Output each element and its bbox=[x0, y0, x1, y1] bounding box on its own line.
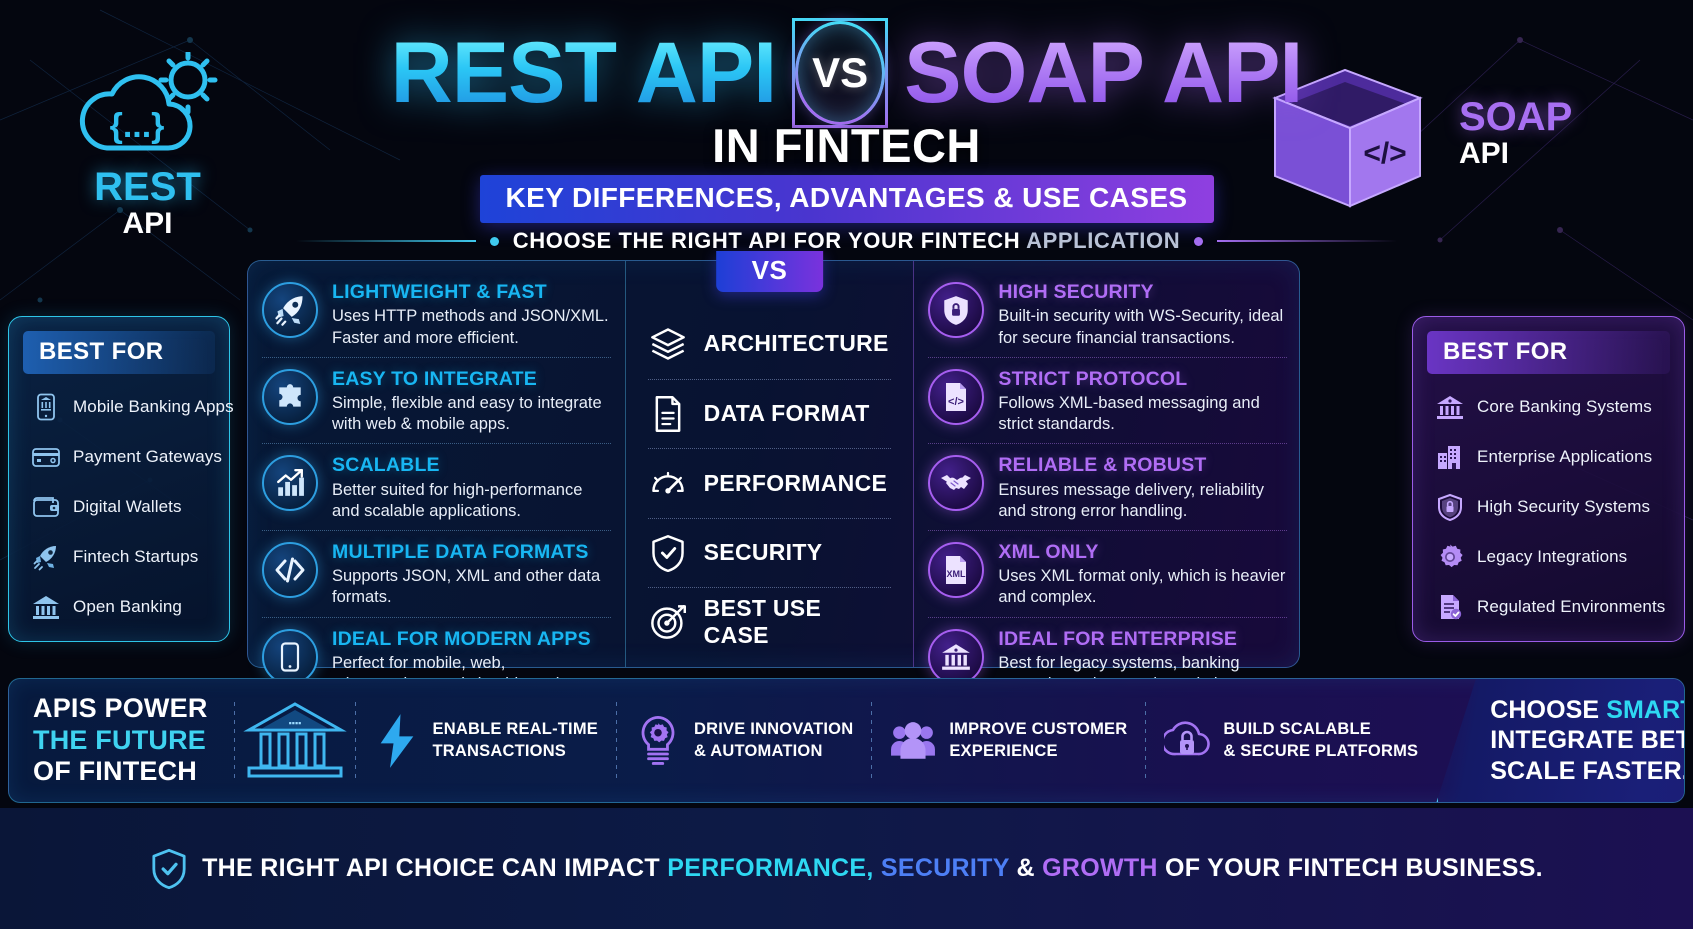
list-item-label: DRIVE INNOVATION & AUTOMATION bbox=[694, 719, 853, 762]
vs-label: VS bbox=[812, 49, 868, 97]
list-item[interactable]: High Security Systems bbox=[1423, 482, 1674, 532]
cta-line-1: CHOOSE SMART. bbox=[1490, 695, 1685, 726]
infographic-canvas: {...} REST API </> SOAP bbox=[0, 0, 1693, 929]
list-item[interactable]: DRIVE INNOVATION & AUTOMATION bbox=[617, 718, 871, 764]
feature-title: IDEAL FOR ENTERPRISE bbox=[998, 628, 1287, 650]
document-icon bbox=[648, 394, 688, 434]
footer-bar: THE RIGHT API CHOICE CAN IMPACT PERFORMA… bbox=[0, 808, 1693, 929]
lead-line-right bbox=[1217, 240, 1397, 242]
criteria-label: ARCHITECTURE bbox=[704, 330, 889, 357]
footer-mid-2: & bbox=[1009, 854, 1042, 882]
list-item[interactable]: HIGH SECURITY Built-in security with WS-… bbox=[928, 271, 1287, 357]
list-item-label: High Security Systems bbox=[1477, 497, 1650, 517]
title-rest-api: REST API bbox=[391, 30, 776, 116]
list-item-label: Digital Wallets bbox=[73, 497, 182, 517]
feature-title: LIGHTWEIGHT & FAST bbox=[332, 281, 611, 303]
criteria-label: SECURITY bbox=[704, 539, 823, 566]
handshake-icon bbox=[928, 455, 984, 511]
list-item[interactable]: Core Banking Systems bbox=[1423, 382, 1674, 432]
list-item-label: Regulated Environments bbox=[1477, 597, 1665, 617]
feature-desc: Better suited for high-performance and s… bbox=[332, 480, 611, 522]
list-item-line-1: BUILD SCALABLE bbox=[1223, 720, 1371, 738]
rest-feature-column: LIGHTWEIGHT & FAST Uses HTTP methods and… bbox=[248, 261, 625, 667]
feature-desc: Follows XML-based messaging and strict s… bbox=[998, 393, 1287, 435]
list-item-label: IMPROVE CUSTOMER EXPERIENCE bbox=[949, 719, 1127, 762]
bank-icon bbox=[1435, 392, 1465, 422]
rocket-icon bbox=[262, 282, 318, 338]
list-item[interactable]: IMPROVE CUSTOMER EXPERIENCE bbox=[872, 718, 1145, 764]
footer-mid-1 bbox=[874, 854, 881, 882]
tagline-line-2: THE FUTURE bbox=[33, 725, 208, 757]
ribbon-key-differences: KEY DIFFERENCES, ADVANTAGES & USE CASES bbox=[480, 175, 1214, 223]
target-icon bbox=[648, 602, 688, 642]
users-icon bbox=[890, 718, 936, 764]
svg-text:XML: XML bbox=[947, 569, 967, 579]
footer-text: THE RIGHT API CHOICE CAN IMPACT PERFORMA… bbox=[202, 854, 1543, 883]
brand-rest-name: REST bbox=[40, 167, 255, 207]
lead-line-left bbox=[296, 240, 476, 242]
feature-text: STRICT PROTOCOL Follows XML-based messag… bbox=[998, 367, 1287, 436]
list-item[interactable]: Payment Gateways bbox=[19, 432, 219, 482]
list-item[interactable]: EASY TO INTEGRATE Simple, flexible and e… bbox=[262, 357, 611, 444]
choose-text-dim: APPLICATION bbox=[1026, 228, 1180, 253]
rocket-icon bbox=[31, 542, 61, 572]
footer-growth: GROWTH bbox=[1042, 854, 1158, 882]
list-item[interactable]: SECURITY bbox=[648, 518, 892, 588]
list-item[interactable]: RELIABLE & ROBUST Ensures message delive… bbox=[928, 443, 1287, 530]
feature-text: EASY TO INTEGRATE Simple, flexible and e… bbox=[332, 367, 611, 436]
shield-check-icon bbox=[648, 533, 688, 573]
footer-part-2: OF YOUR FINTECH BUSINESS. bbox=[1158, 854, 1543, 882]
apis-power-tagline: APIS POWER THE FUTURE OF FINTECH bbox=[9, 693, 234, 789]
cta-line-2: INTEGRATE BETTER. bbox=[1490, 725, 1685, 756]
feature-title: XML ONLY bbox=[998, 541, 1287, 563]
criteria-column: VS ARCHITECTURE DATA FORMAT bbox=[625, 261, 915, 667]
list-item-label: Open Banking bbox=[73, 597, 182, 617]
feature-text: SCALABLE Better suited for high-performa… bbox=[332, 453, 611, 522]
gear-icon bbox=[1435, 542, 1465, 572]
list-item[interactable]: BEST USE CASE bbox=[648, 587, 892, 657]
feature-desc: Uses HTTP methods and JSON/XML. Faster a… bbox=[332, 306, 611, 348]
feature-title: IDEAL FOR MODERN APPS bbox=[332, 628, 611, 650]
soap-best-for-panel: BEST FOR Core Banking Systems Enterprise… bbox=[1412, 316, 1685, 642]
list-item[interactable]: SCALABLE Better suited for high-performa… bbox=[262, 443, 611, 530]
cta-line-1a: CHOOSE bbox=[1490, 696, 1606, 724]
feature-desc: Supports JSON, XML and other data format… bbox=[332, 566, 611, 608]
vs-tab: VS bbox=[716, 251, 824, 292]
list-item[interactable]: Enterprise Applications bbox=[1423, 432, 1674, 482]
comparison-panel: LIGHTWEIGHT & FAST Uses HTTP methods and… bbox=[247, 260, 1300, 668]
shield-check-icon bbox=[150, 848, 188, 890]
puzzle-icon bbox=[262, 369, 318, 425]
building-icon bbox=[1435, 442, 1465, 472]
feature-desc: Ensures message delivery, reliability an… bbox=[998, 480, 1287, 522]
soap-feature-column: HIGH SECURITY Built-in security with WS-… bbox=[914, 261, 1299, 667]
list-item[interactable]: MULTIPLE DATA FORMATS Supports JSON, XML… bbox=[262, 530, 611, 617]
svg-text:</>: </> bbox=[948, 396, 964, 408]
list-item-line-1: IMPROVE CUSTOMER bbox=[949, 720, 1127, 738]
vs-emblem: VS bbox=[792, 18, 888, 128]
list-item[interactable]: ENABLE REAL-TIME TRANSACTIONS bbox=[356, 718, 616, 764]
svg-text:▪▪▪▪: ▪▪▪▪ bbox=[288, 718, 301, 728]
list-item[interactable]: Regulated Environments bbox=[1423, 582, 1674, 632]
choose-text-bold: CHOOSE THE RIGHT API FOR YOUR FINTECH bbox=[513, 228, 1026, 253]
list-item[interactable]: ARCHITECTURE bbox=[648, 309, 892, 379]
list-item[interactable]: PERFORMANCE bbox=[648, 448, 892, 518]
footer-performance: PERFORMANCE, bbox=[667, 854, 873, 882]
list-item-label: ENABLE REAL-TIME TRANSACTIONS bbox=[433, 719, 598, 762]
mobile-bank-icon bbox=[31, 392, 61, 422]
lightning-icon bbox=[374, 718, 420, 764]
feature-title: STRICT PROTOCOL bbox=[998, 368, 1287, 390]
growth-chart-icon bbox=[262, 455, 318, 511]
list-item-label: Fintech Startups bbox=[73, 547, 198, 567]
feature-title: SCALABLE bbox=[332, 454, 611, 476]
list-item-label: Legacy Integrations bbox=[1477, 547, 1627, 567]
cta-line-3: SCALE FASTER. bbox=[1490, 756, 1685, 787]
list-item[interactable]: Fintech Startups bbox=[19, 532, 219, 582]
feature-desc: Built-in security with WS-Security, idea… bbox=[998, 306, 1287, 348]
cloud-lock-icon bbox=[1164, 718, 1210, 764]
lightbulb-gear-icon bbox=[635, 718, 681, 764]
feature-text: MULTIPLE DATA FORMATS Supports JSON, XML… bbox=[332, 540, 611, 609]
xml-file-icon: XML bbox=[928, 542, 984, 598]
xml-code-file-icon: </> bbox=[928, 369, 984, 425]
list-item-line-2: & AUTOMATION bbox=[694, 742, 823, 760]
choose-right-api-line: CHOOSE THE RIGHT API FOR YOUR FINTECH AP… bbox=[0, 228, 1693, 254]
list-item[interactable]: BUILD SCALABLE & SECURE PLATFORMS bbox=[1146, 718, 1436, 764]
list-item-line-1: DRIVE INNOVATION bbox=[694, 720, 853, 738]
rest-best-for-list: Mobile Banking Apps Payment Gateways Dig… bbox=[9, 382, 229, 632]
title-soap-api: SOAP API bbox=[904, 30, 1302, 116]
list-item-label: Mobile Banking Apps bbox=[73, 397, 234, 417]
list-item[interactable]: LIGHTWEIGHT & FAST Uses HTTP methods and… bbox=[262, 271, 611, 357]
list-item-line-2: TRANSACTIONS bbox=[433, 742, 566, 760]
speedometer-icon bbox=[648, 463, 688, 503]
cta-choose-smart[interactable]: CHOOSE SMART. INTEGRATE BETTER. SCALE FA… bbox=[1436, 678, 1685, 803]
list-item[interactable]: </> STRICT PROTOCOL Follows XML-based me… bbox=[928, 357, 1287, 444]
list-item[interactable]: Mobile Banking Apps bbox=[19, 382, 219, 432]
list-item[interactable]: XML XML ONLY Uses XML format only, which… bbox=[928, 530, 1287, 617]
list-item[interactable]: Open Banking bbox=[19, 582, 219, 632]
criteria-label: PERFORMANCE bbox=[704, 470, 887, 497]
bank-building-icon: ▪▪▪▪ bbox=[235, 698, 355, 784]
rest-best-for-heading: BEST FOR bbox=[23, 331, 215, 374]
header: {...} REST API </> SOAP bbox=[0, 0, 1693, 262]
list-item[interactable]: DATA FORMAT bbox=[648, 379, 892, 449]
feature-text: RELIABLE & ROBUST Ensures message delive… bbox=[998, 453, 1287, 522]
feature-desc: Simple, flexible and easy to integrate w… bbox=[332, 393, 611, 435]
footer-part-1: THE RIGHT API CHOICE CAN IMPACT bbox=[202, 854, 667, 882]
soap-best-for-list: Core Banking Systems Enterprise Applicat… bbox=[1413, 382, 1684, 632]
criteria-label: BEST USE CASE bbox=[704, 595, 892, 649]
layers-icon bbox=[648, 324, 688, 364]
feature-desc: Uses XML format only, which is heavier a… bbox=[998, 566, 1287, 608]
list-item-label: Enterprise Applications bbox=[1477, 447, 1652, 467]
list-item-line-2: EXPERIENCE bbox=[949, 742, 1057, 760]
choose-text: CHOOSE THE RIGHT API FOR YOUR FINTECH AP… bbox=[513, 228, 1180, 254]
main-title: REST API VS SOAP API bbox=[0, 18, 1693, 128]
list-item[interactable]: Digital Wallets bbox=[19, 482, 219, 532]
feature-title: HIGH SECURITY bbox=[998, 281, 1287, 303]
feature-title: RELIABLE & ROBUST bbox=[998, 454, 1287, 476]
wallet-icon bbox=[31, 492, 61, 522]
bank-icon bbox=[928, 629, 984, 685]
lead-dot-left bbox=[490, 237, 499, 246]
criteria-list: ARCHITECTURE DATA FORMAT PERFORMANCE bbox=[626, 309, 914, 657]
list-item-line-2: & SECURE PLATFORMS bbox=[1223, 742, 1418, 760]
soap-best-for-heading: BEST FOR bbox=[1427, 331, 1670, 374]
tagline-line-1: APIS POWER bbox=[33, 693, 208, 725]
criteria-label: DATA FORMAT bbox=[704, 400, 870, 427]
feature-text: LIGHTWEIGHT & FAST Uses HTTP methods and… bbox=[332, 280, 611, 349]
shield-lock-icon bbox=[1435, 492, 1465, 522]
code-icon bbox=[262, 542, 318, 598]
document-check-icon bbox=[1435, 592, 1465, 622]
shield-lock-icon bbox=[928, 282, 984, 338]
footer-security: SECURITY bbox=[881, 854, 1009, 882]
lead-dot-right bbox=[1194, 237, 1203, 246]
rest-best-for-panel: BEST FOR Mobile Banking Apps Payment Gat… bbox=[8, 316, 230, 642]
list-item-line-1: ENABLE REAL-TIME bbox=[433, 720, 598, 738]
list-item[interactable]: Legacy Integrations bbox=[1423, 532, 1674, 582]
credit-card-icon bbox=[31, 442, 61, 472]
cta-line-1b: SMART. bbox=[1606, 696, 1685, 724]
feature-text: XML ONLY Uses XML format only, which is … bbox=[998, 540, 1287, 609]
list-item-label: BUILD SCALABLE & SECURE PLATFORMS bbox=[1223, 719, 1418, 762]
bottom-banner: APIS POWER THE FUTURE OF FINTECH ▪▪▪▪ bbox=[8, 678, 1685, 803]
list-item-label: Payment Gateways bbox=[73, 447, 222, 467]
list-item-label: Core Banking Systems bbox=[1477, 397, 1652, 417]
tagline-line-3: OF FINTECH bbox=[33, 756, 208, 788]
feature-title: EASY TO INTEGRATE bbox=[332, 368, 611, 390]
subtitle-in-fintech: IN FINTECH bbox=[0, 118, 1693, 173]
bank-icon bbox=[31, 592, 61, 622]
feature-text: HIGH SECURITY Built-in security with WS-… bbox=[998, 280, 1287, 349]
feature-title: MULTIPLE DATA FORMATS bbox=[332, 541, 611, 563]
smartphone-icon bbox=[262, 629, 318, 685]
cta-lines: CHOOSE SMART. INTEGRATE BETTER. SCALE FA… bbox=[1490, 695, 1685, 787]
